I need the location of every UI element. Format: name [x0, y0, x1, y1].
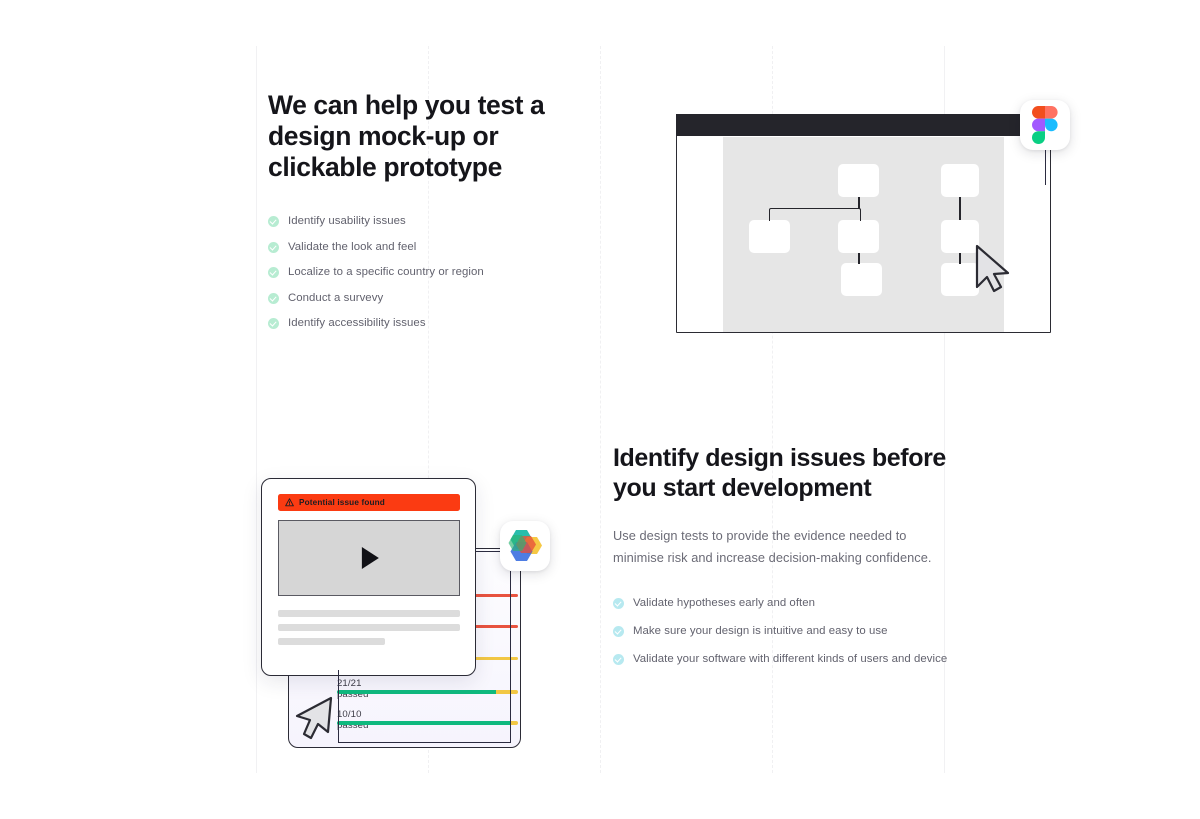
list-item-label: Localize to a specific country or region	[288, 266, 484, 279]
design-issues-section: Identify design issues before you start …	[613, 443, 948, 681]
mouse-pointer-icon	[972, 243, 1018, 295]
list-item: Identify usability issues	[268, 215, 598, 228]
page-root: We can help you test a design mock-up or…	[0, 0, 1200, 819]
check-circle-icon	[268, 318, 279, 329]
connector-line	[858, 253, 860, 264]
list-item-label: Make sure your design is intuitive and e…	[633, 625, 888, 638]
list-item-label: Conduct a survevy	[288, 292, 383, 305]
video-placeholder	[278, 520, 460, 596]
list-item: Make sure your design is intuitive and e…	[613, 625, 948, 638]
test-result-card: Potential issue found	[261, 478, 476, 676]
badge-connector-stem	[510, 571, 511, 743]
design-issues-paragraph: Use design tests to provide the evidence…	[613, 525, 948, 569]
sitemap-node	[838, 220, 879, 253]
list-item: Conduct a survevy	[268, 292, 598, 305]
figma-logo-icon	[1032, 106, 1058, 144]
connector-bracket	[769, 208, 861, 221]
list-item: Validate your software with different ki…	[613, 653, 948, 666]
hexagon-badge	[500, 521, 550, 571]
list-item-label: Validate hypotheses early and often	[633, 597, 815, 610]
design-issues-headline: Identify design issues before you start …	[613, 443, 948, 503]
skeleton-line	[278, 624, 460, 631]
list-item-label: Validate your software with different ki…	[633, 653, 947, 666]
skeleton-line	[278, 610, 460, 617]
check-circle-icon	[613, 626, 624, 637]
panel-left-connector	[338, 670, 339, 743]
connector-line	[959, 197, 961, 220]
design-mockup-bullet-list: Identify usability issues Validate the l…	[268, 215, 598, 330]
progress-passed-segment	[337, 721, 511, 725]
play-triangle-icon	[362, 547, 379, 569]
check-circle-icon	[268, 216, 279, 227]
mouse-pointer-icon	[290, 694, 336, 744]
grid-line-3	[600, 46, 602, 773]
design-mockup-headline: We can help you test a design mock-up or…	[268, 90, 598, 183]
progress-passed-segment	[337, 690, 496, 694]
skeleton-line	[278, 638, 385, 645]
sitemap-node	[941, 164, 979, 197]
alert-banner-label: Potential issue found	[299, 498, 385, 507]
check-circle-icon	[613, 598, 624, 609]
list-item-label: Validate the look and feel	[288, 241, 416, 254]
check-circle-icon	[268, 267, 279, 278]
figma-browser-mockup	[676, 114, 1051, 333]
progress-label: 21/21 passed	[337, 678, 369, 700]
hexagon-logo-icon	[507, 529, 543, 563]
check-circle-icon	[268, 242, 279, 253]
tick-line-red-2	[474, 625, 518, 628]
grid-line-1	[256, 46, 257, 773]
list-item: Localize to a specific country or region	[268, 266, 598, 279]
list-item-label: Identify accessibility issues	[288, 317, 426, 330]
progress-pending-segment	[496, 690, 518, 694]
design-issues-bullet-list: Validate hypotheses early and often Make…	[613, 597, 948, 666]
tick-line-red-1	[474, 594, 518, 597]
progress-bar	[337, 721, 518, 725]
tick-line-yellow	[474, 657, 518, 660]
design-mockup-section: We can help you test a design mock-up or…	[268, 90, 598, 343]
connector-line	[959, 253, 961, 264]
panel-bottom-connector	[338, 742, 511, 743]
progress-label: 10/10 passed	[337, 709, 369, 731]
progress-pending-segment	[511, 721, 518, 725]
alert-banner: Potential issue found	[278, 494, 460, 511]
browser-titlebar	[676, 114, 1051, 136]
warning-triangle-icon	[285, 498, 294, 507]
list-item: Identify accessibility issues	[268, 317, 598, 330]
browser-canvas	[723, 137, 1004, 332]
sitemap-node	[749, 220, 790, 253]
figma-badge	[1020, 100, 1070, 150]
progress-bar	[337, 690, 518, 694]
check-circle-icon	[613, 654, 624, 665]
check-circle-icon	[268, 293, 279, 304]
list-item: Validate hypotheses early and often	[613, 597, 948, 610]
list-item-label: Identify usability issues	[288, 215, 406, 228]
list-item: Validate the look and feel	[268, 241, 598, 254]
sitemap-node	[841, 263, 882, 296]
badge-connector-stem	[1045, 150, 1046, 185]
sitemap-node	[838, 164, 879, 197]
